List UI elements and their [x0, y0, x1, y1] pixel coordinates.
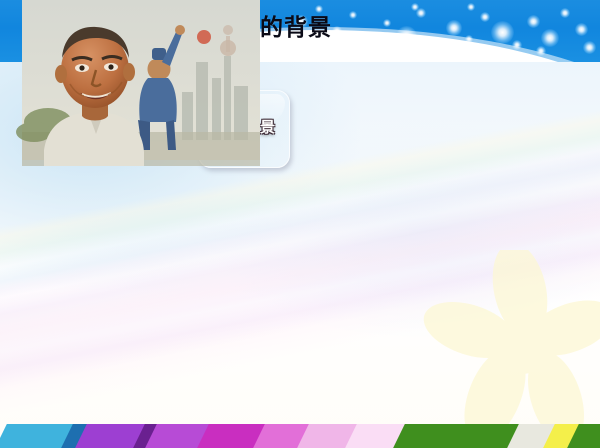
sparkle-dot	[383, 19, 391, 27]
sparkle-dot	[467, 3, 475, 11]
sparkle-dot	[480, 12, 490, 22]
slide-canvas: 实行改革开放决策的背景	[0, 0, 600, 448]
sparkle-dot	[446, 20, 462, 36]
sparkle-dot	[411, 3, 419, 11]
sparkle-dot	[491, 21, 514, 44]
sparkle-dot	[527, 15, 540, 28]
photo-scene	[0, 0, 260, 186]
sparkle-dot	[575, 23, 588, 36]
sparkle-dot	[349, 11, 357, 19]
flower-watermark-icon	[410, 250, 600, 448]
sparkle-dot	[583, 41, 596, 54]
bottom-color-strip	[0, 424, 600, 448]
sparkle-dot	[560, 8, 570, 18]
sparkle-dot	[541, 29, 559, 47]
